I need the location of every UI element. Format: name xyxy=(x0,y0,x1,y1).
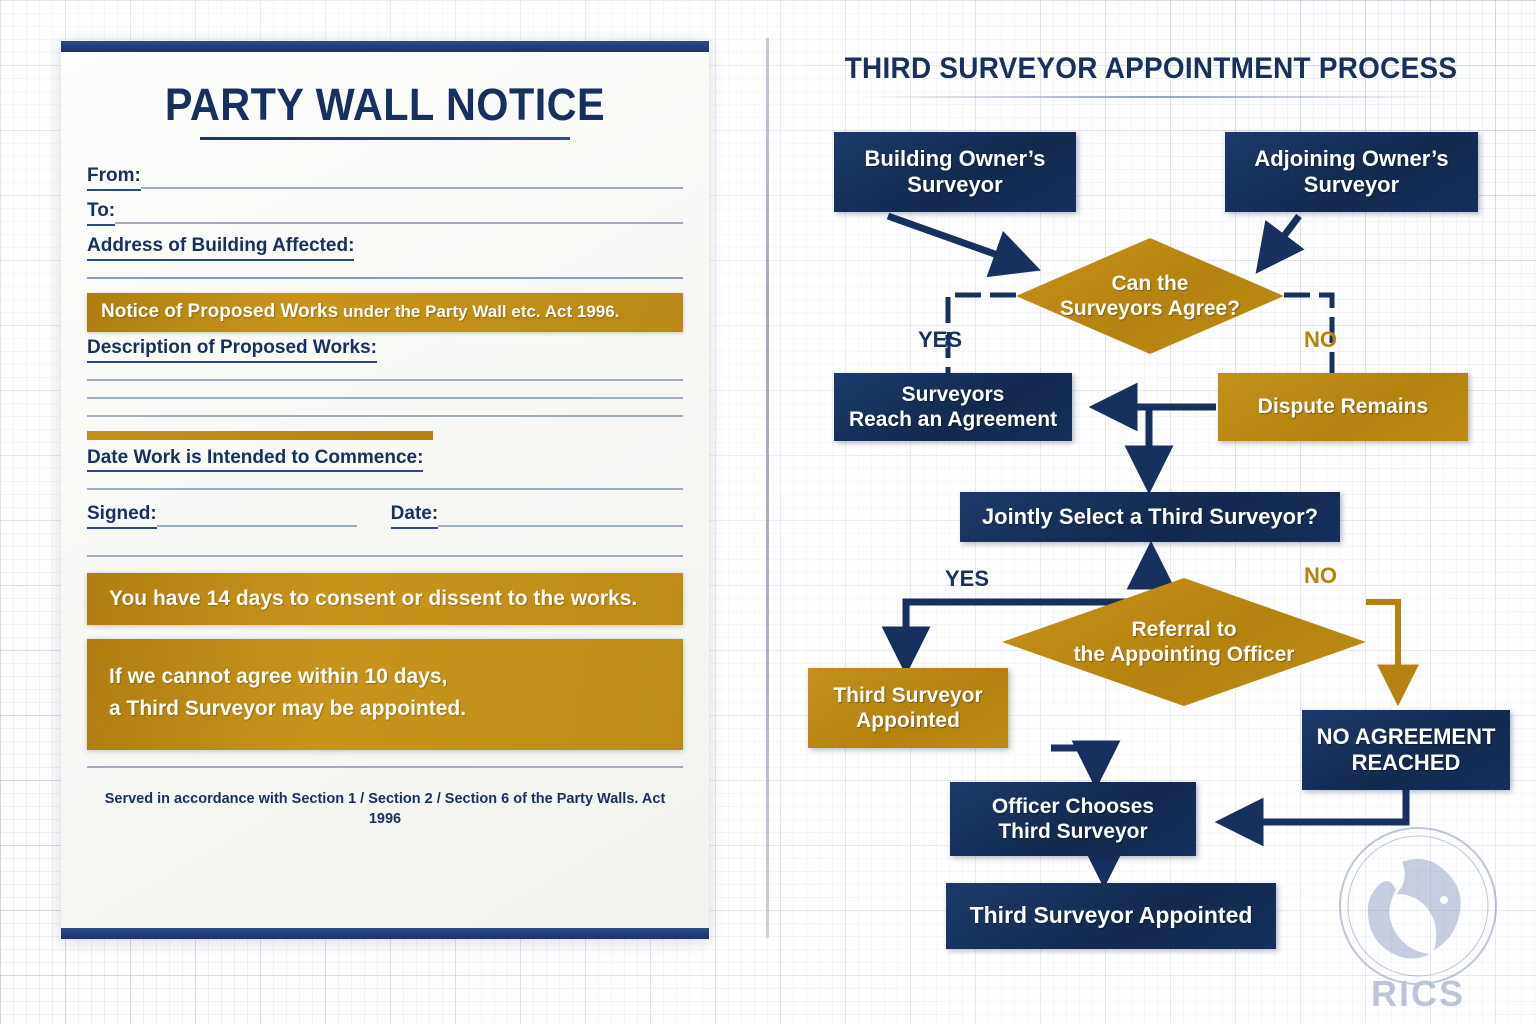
field-description-line-3[interactable] xyxy=(87,415,683,417)
field-commence-input[interactable] xyxy=(87,488,683,490)
notice-top-bar xyxy=(61,41,709,52)
field-description[interactable]: Description of Proposed Works: xyxy=(87,338,683,417)
node-referral-to-appointing-officer-label: Referral to the Appointing Officer xyxy=(1066,617,1303,667)
node-jointly-select-third-surveyor[interactable]: Jointly Select a Third Surveyor? xyxy=(960,492,1340,542)
field-date-input[interactable] xyxy=(438,525,683,527)
node-building-owner-surveyor-label: Building Owner’s Surveyor xyxy=(865,146,1046,199)
third-surveyor-note: If we cannot agree within 10 days, a Thi… xyxy=(87,639,683,750)
field-address-label: Address of Building Affected: xyxy=(87,236,354,261)
flowchart-title-rule xyxy=(854,96,1454,98)
node-third-surveyor-appointed-label: Third Surveyor Appointed xyxy=(833,683,982,733)
node-can-surveyors-agree[interactable]: Can the Surveyors Agree? xyxy=(1016,238,1284,354)
third-surveyor-note-line-2: a Third Surveyor may be appointed. xyxy=(109,693,661,725)
flowchart-panel: THIRD SURVEYOR APPOINTMENT PROCESS xyxy=(766,0,1536,1024)
notice-bottom-bar xyxy=(61,928,709,939)
node-officer-chooses-third-surveyor[interactable]: Officer Chooses Third Surveyor xyxy=(950,782,1196,856)
node-third-surveyor-appointed-final-label: Third Surveyor Appointed xyxy=(970,902,1253,930)
node-can-surveyors-agree-label: Can the Surveyors Agree? xyxy=(1052,271,1248,321)
node-adjoining-owner-surveyor-label: Adjoining Owner’s Surveyor xyxy=(1254,146,1448,199)
proposed-works-banner: Notice of Proposed Works under the Party… xyxy=(87,293,683,332)
edge-label-agree-yes: YES xyxy=(918,327,962,353)
page-title: PARTY WALL NOTICE xyxy=(111,79,659,131)
field-commence-label: Date Work is Intended to Commence: xyxy=(87,448,423,473)
node-surveyors-reach-agreement[interactable]: Surveyors Reach an Agreement xyxy=(834,373,1072,441)
edge-label-select-yes: YES xyxy=(945,566,989,592)
banner-strong: Notice of Proposed Works xyxy=(101,301,338,322)
field-to-input[interactable] xyxy=(115,222,683,224)
field-description-line-1[interactable] xyxy=(87,379,683,381)
field-signed-input[interactable] xyxy=(157,525,357,527)
node-no-agreement-reached-label: NO AGREEMENT REACHED xyxy=(1317,724,1496,777)
node-surveyors-reach-agreement-label: Surveyors Reach an Agreement xyxy=(849,382,1057,432)
pre-notes-rule xyxy=(87,555,683,557)
gold-section-rule xyxy=(87,431,433,440)
banner-rest: under the Party Wall etc. Act 1996. xyxy=(338,302,619,321)
field-from[interactable]: From: xyxy=(87,166,683,191)
field-to[interactable]: To: xyxy=(87,201,683,226)
title-underline xyxy=(200,137,570,140)
edge-label-select-no: NO xyxy=(1304,563,1337,589)
notice-footer-line-1: Served in accordance with Section 1 / Se… xyxy=(87,790,683,810)
rics-watermark: RICS xyxy=(1318,818,1518,1018)
node-referral-to-appointing-officer[interactable]: Referral to the Appointing Officer xyxy=(1002,578,1366,706)
field-from-label: From: xyxy=(87,166,141,191)
node-officer-chooses-third-surveyor-label: Officer Chooses Third Surveyor xyxy=(992,794,1154,844)
node-jointly-select-third-surveyor-label: Jointly Select a Third Surveyor? xyxy=(982,504,1318,530)
party-wall-notice-card: PARTY WALL NOTICE From: To: Address of B… xyxy=(61,41,709,939)
notice-footer: Served in accordance with Section 1 / Se… xyxy=(87,790,683,829)
field-address[interactable]: Address of Building Affected: xyxy=(87,236,683,279)
node-dispute-remains[interactable]: Dispute Remains xyxy=(1218,373,1468,441)
field-description-line-2[interactable] xyxy=(87,397,683,399)
notice-footer-line-2: 1996 xyxy=(87,810,683,830)
field-to-label: To: xyxy=(87,201,115,226)
rics-wordmark: RICS xyxy=(1371,973,1465,1014)
node-dispute-remains-label: Dispute Remains xyxy=(1258,394,1428,419)
field-description-label: Description of Proposed Works: xyxy=(87,338,377,363)
field-address-input[interactable] xyxy=(87,277,683,279)
consent-period-note: You have 14 days to consent or dissent t… xyxy=(87,573,683,625)
node-building-owner-surveyor[interactable]: Building Owner’s Surveyor xyxy=(834,132,1076,212)
field-from-input[interactable] xyxy=(141,187,683,189)
edge-label-agree-no: NO xyxy=(1304,327,1337,353)
flowchart-title: THIRD SURVEYOR APPOINTMENT PROCESS xyxy=(793,52,1509,86)
node-third-surveyor-appointed-final[interactable]: Third Surveyor Appointed xyxy=(946,883,1276,949)
third-surveyor-note-line-1: If we cannot agree within 10 days, xyxy=(109,661,661,693)
field-date-label: Date: xyxy=(391,504,439,529)
node-third-surveyor-appointed[interactable]: Third Surveyor Appointed xyxy=(808,668,1008,748)
field-commence[interactable]: Date Work is Intended to Commence: xyxy=(87,448,683,491)
node-no-agreement-reached[interactable]: NO AGREEMENT REACHED xyxy=(1302,710,1510,790)
field-signed-label: Signed: xyxy=(87,504,157,529)
footer-rule xyxy=(87,766,683,768)
node-adjoining-owner-surveyor[interactable]: Adjoining Owner’s Surveyor xyxy=(1225,132,1478,212)
signature-row[interactable]: Signed: Date: xyxy=(87,504,683,529)
